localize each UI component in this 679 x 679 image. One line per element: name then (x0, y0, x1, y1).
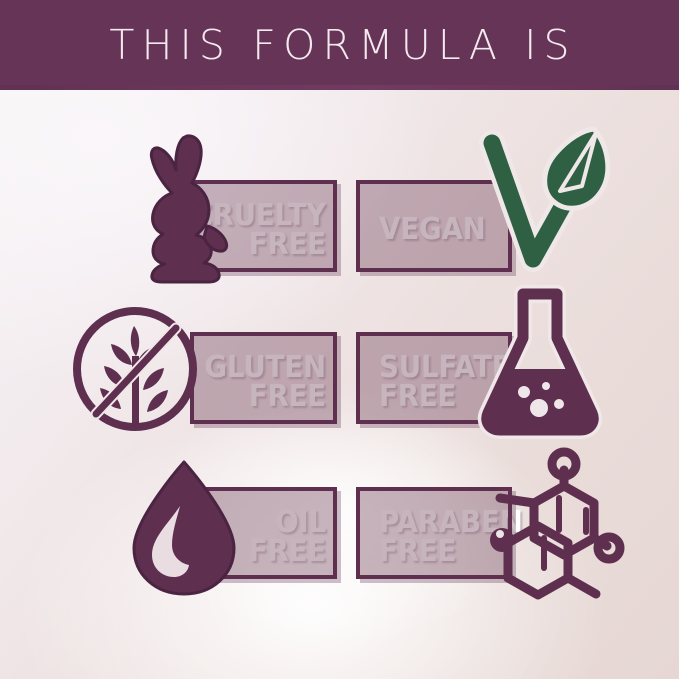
oil-free-plate (190, 487, 337, 579)
paraben-free-plate (356, 487, 512, 579)
vegan-plate (356, 180, 512, 272)
page-title: THIS FORMULA IS (102, 21, 577, 69)
sulfate-free-plate (356, 332, 512, 424)
formula-claims-infographic: THIS FORMULA IS CRUELTY FREE VEGAN (0, 0, 679, 679)
gluten-free-plate (190, 332, 337, 424)
badge-canvas: CRUELTY FREE VEGAN (0, 90, 679, 679)
header-banner: THIS FORMULA IS (0, 0, 679, 90)
cruelty-free-plate (190, 180, 337, 272)
no-wheat-icon (70, 298, 206, 440)
